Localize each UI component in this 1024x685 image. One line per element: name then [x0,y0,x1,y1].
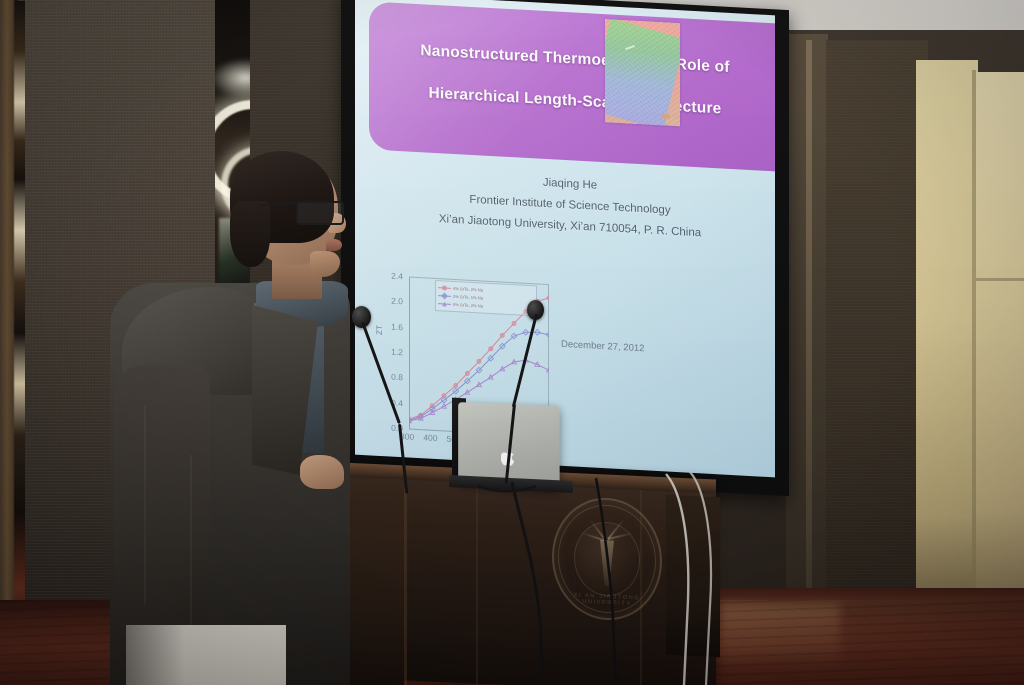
chart-data-point [489,347,493,351]
lectern-side-panel [666,495,720,657]
cream-wall-panel-1 [916,60,978,630]
chart-y-tick-label: 2.0 [377,295,403,306]
university-emblem: XI AN JIAOTONG UNIVERSITY [552,496,662,623]
chart-legend-swatch [438,287,451,289]
ebsd-orientation-map [605,19,680,126]
hair-sideburn [230,201,270,267]
chin [310,251,340,277]
chart-x-ticks: 300400500 [377,269,561,279]
ceiling-light-glow [215,58,253,98]
chart-data-point [547,296,549,300]
jacket-fold-1 [144,405,146,605]
lectern-seam-2 [476,486,478,685]
chart-legend-label: 4% SrTe, 2% Na [453,286,483,293]
chart-data-point [512,321,516,325]
chart-data-point [477,359,481,363]
jacket-fold-2 [190,455,192,635]
presentation-photo-scene: Nanostructured Thermoelectrics: Role of … [0,0,1024,685]
chart-y-tick-label: 2.4 [377,270,403,281]
chart-legend-label: 2% SrTe, 1% Na [453,294,483,301]
lectern-seam-1 [404,486,407,685]
chart-x-tick-label: 400 [423,432,437,443]
chart-data-point [465,371,469,375]
chart-y-tick-label: 1.6 [377,320,403,331]
mouth [326,239,342,251]
projection-screen[interactable]: Nanostructured Thermoelectrics: Role of … [355,0,775,477]
chart-data-point [454,383,458,387]
slide-author-block: Jiaqing He Frontier Institute of Science… [395,165,745,247]
chart-legend-marker-icon [442,285,447,290]
micrograph-scale-marker [661,114,670,118]
chart-y-tick-label: 1.2 [377,346,403,357]
hand [300,455,344,489]
chart-legend-marker-icon [441,292,448,299]
chart-legend: 4% SrTe, 2% Na2% SrTe, 1% Na0% SrTe, 2% … [435,280,537,317]
chart-legend-marker-icon [442,301,447,306]
chart-legend-swatch [438,303,451,305]
cream-wall-panel-2 [976,72,1024,632]
slide-date: December 27, 2012 [561,339,644,355]
eyeglasses-lens [296,201,344,225]
chart-data-point [500,333,504,337]
wall-seam-right [806,40,812,670]
slide-title-line1: Nanostructured Thermoelectrics: Role of [420,42,729,76]
cream-wall-horizontal-line [976,278,1024,281]
chart-y-ticks: 0.00.40.81.21.62.02.4 [377,269,561,279]
presenter [104,155,364,685]
chart-legend-swatch [438,295,451,297]
micrograph-texture [605,19,680,126]
chart-legend-label: 0% SrTe, 2% Na [453,302,483,309]
trousers-shadow [126,625,184,685]
